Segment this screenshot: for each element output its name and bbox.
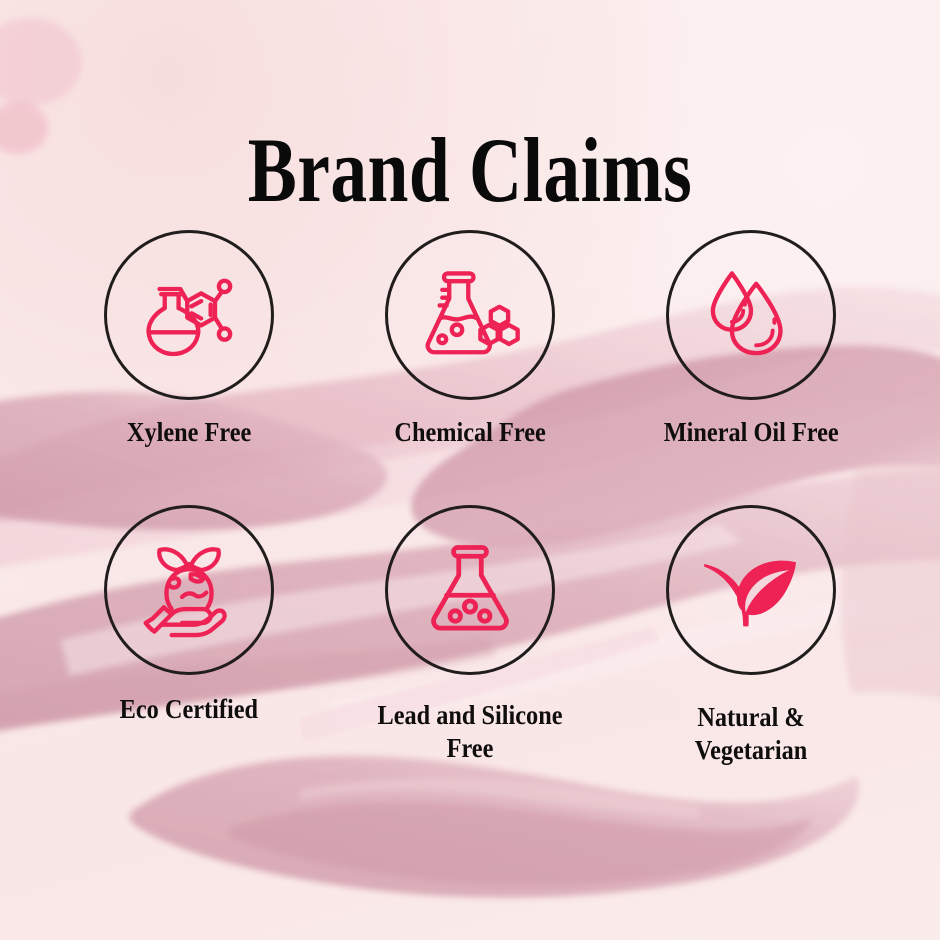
claim-label: Mineral Oil Free bbox=[664, 416, 839, 449]
claim-item-natural-and-vegetarian[interactable]: Natural & Vegetarian bbox=[611, 505, 892, 780]
claim-item-xylene-free[interactable]: Xylene Free bbox=[48, 230, 329, 505]
claim-item-lead-and-silicone-free[interactable]: Lead and Silicone Free bbox=[329, 505, 610, 780]
claim-badge bbox=[666, 505, 836, 675]
claim-badge bbox=[666, 230, 836, 400]
claim-badge bbox=[385, 505, 555, 675]
claim-badge bbox=[104, 230, 274, 400]
water-droplets-icon bbox=[699, 263, 803, 367]
hand-holding-earth-sprout-icon bbox=[137, 538, 241, 642]
claim-label: Eco Certified bbox=[119, 693, 257, 726]
leaf-sprout-icon bbox=[699, 538, 803, 642]
page-title: Brand Claims bbox=[94, 124, 846, 216]
claim-badge bbox=[104, 505, 274, 675]
flask-molecule-icon bbox=[137, 263, 241, 367]
claim-label: Xylene Free bbox=[126, 416, 250, 449]
claim-item-mineral-oil-free[interactable]: Mineral Oil Free bbox=[611, 230, 892, 505]
claim-label: Lead and Silicone Free bbox=[366, 699, 573, 765]
claim-item-eco-certified[interactable]: Eco Certified bbox=[48, 505, 329, 780]
erlenmeyer-flask-bubbles-icon bbox=[418, 538, 522, 642]
claim-item-chemical-free[interactable]: Chemical Free bbox=[329, 230, 610, 505]
erlenmeyer-flask-honeycomb-icon bbox=[418, 263, 522, 367]
claim-badge bbox=[385, 230, 555, 400]
claims-grid: Xylene Free bbox=[48, 230, 892, 780]
brand-claims-graphic: Brand Claims bbox=[0, 0, 940, 940]
claim-label: Natural & Vegetarian bbox=[648, 701, 855, 767]
claim-label: Chemical Free bbox=[394, 416, 545, 449]
